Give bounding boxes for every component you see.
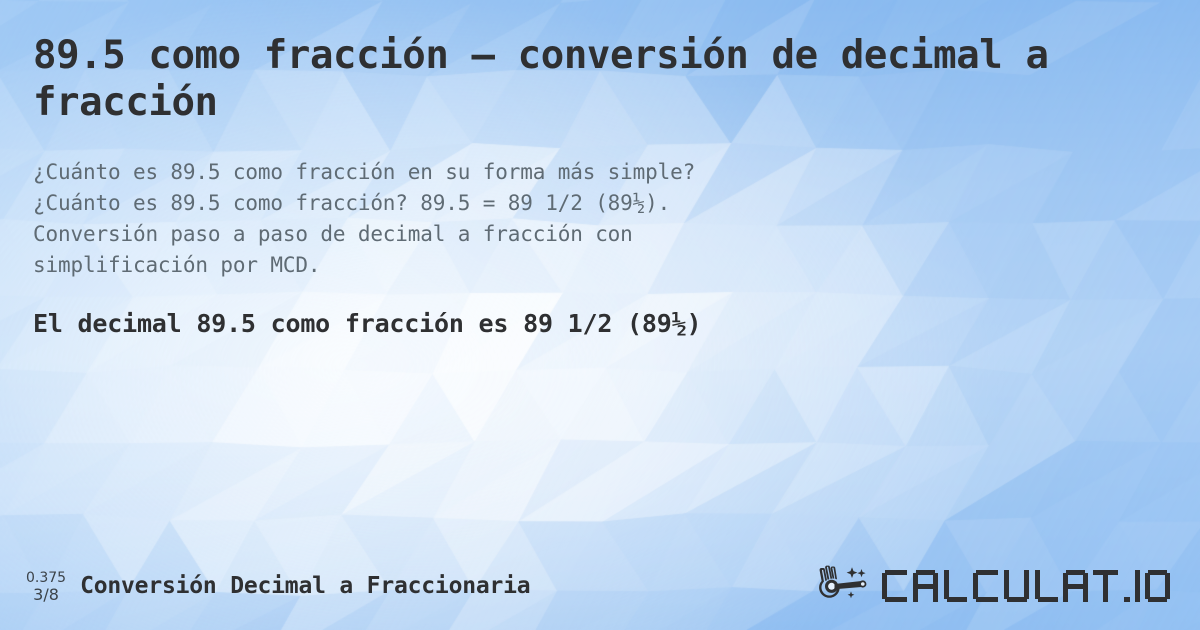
icon-decimal-value: 0.375	[26, 571, 66, 586]
decimal-to-fraction-icon: 0.375 3/8	[26, 569, 66, 603]
description-block: ¿Cuánto es 89.5 como fracción en su form…	[33, 157, 1093, 281]
page-title: 89.5 como fracción – conversión de decim…	[33, 32, 1063, 126]
description-line: Conversión paso a paso de decimal a frac…	[33, 219, 1093, 250]
footer-brand-group: 0.375 3/8 Conversión Decimal a Fracciona…	[26, 569, 530, 603]
footer-bar: 0.375 3/8 Conversión Decimal a Fracciona…	[0, 542, 1200, 630]
icon-fraction-value: 3/8	[33, 586, 59, 603]
hand-holding-magic-wand-icon	[814, 563, 876, 609]
page-content: 89.5 como fracción – conversión de decim…	[0, 0, 1200, 630]
calculatio-wordmark: CALCULAT.IO	[882, 566, 1172, 606]
calculatio-logo[interactable]: CALCULAT.IO	[814, 563, 1178, 609]
description-line: ¿Cuánto es 89.5 como fracción en su form…	[33, 157, 1093, 188]
footer-title: Conversión Decimal a Fraccionaria	[80, 573, 530, 599]
answer-statement: El decimal 89.5 como fracción es 89 1/2 …	[33, 308, 1167, 340]
description-line: ¿Cuánto es 89.5 como fracción? 89.5 = 89…	[33, 188, 1093, 219]
description-line: simplificación por MCD.	[33, 250, 1093, 281]
